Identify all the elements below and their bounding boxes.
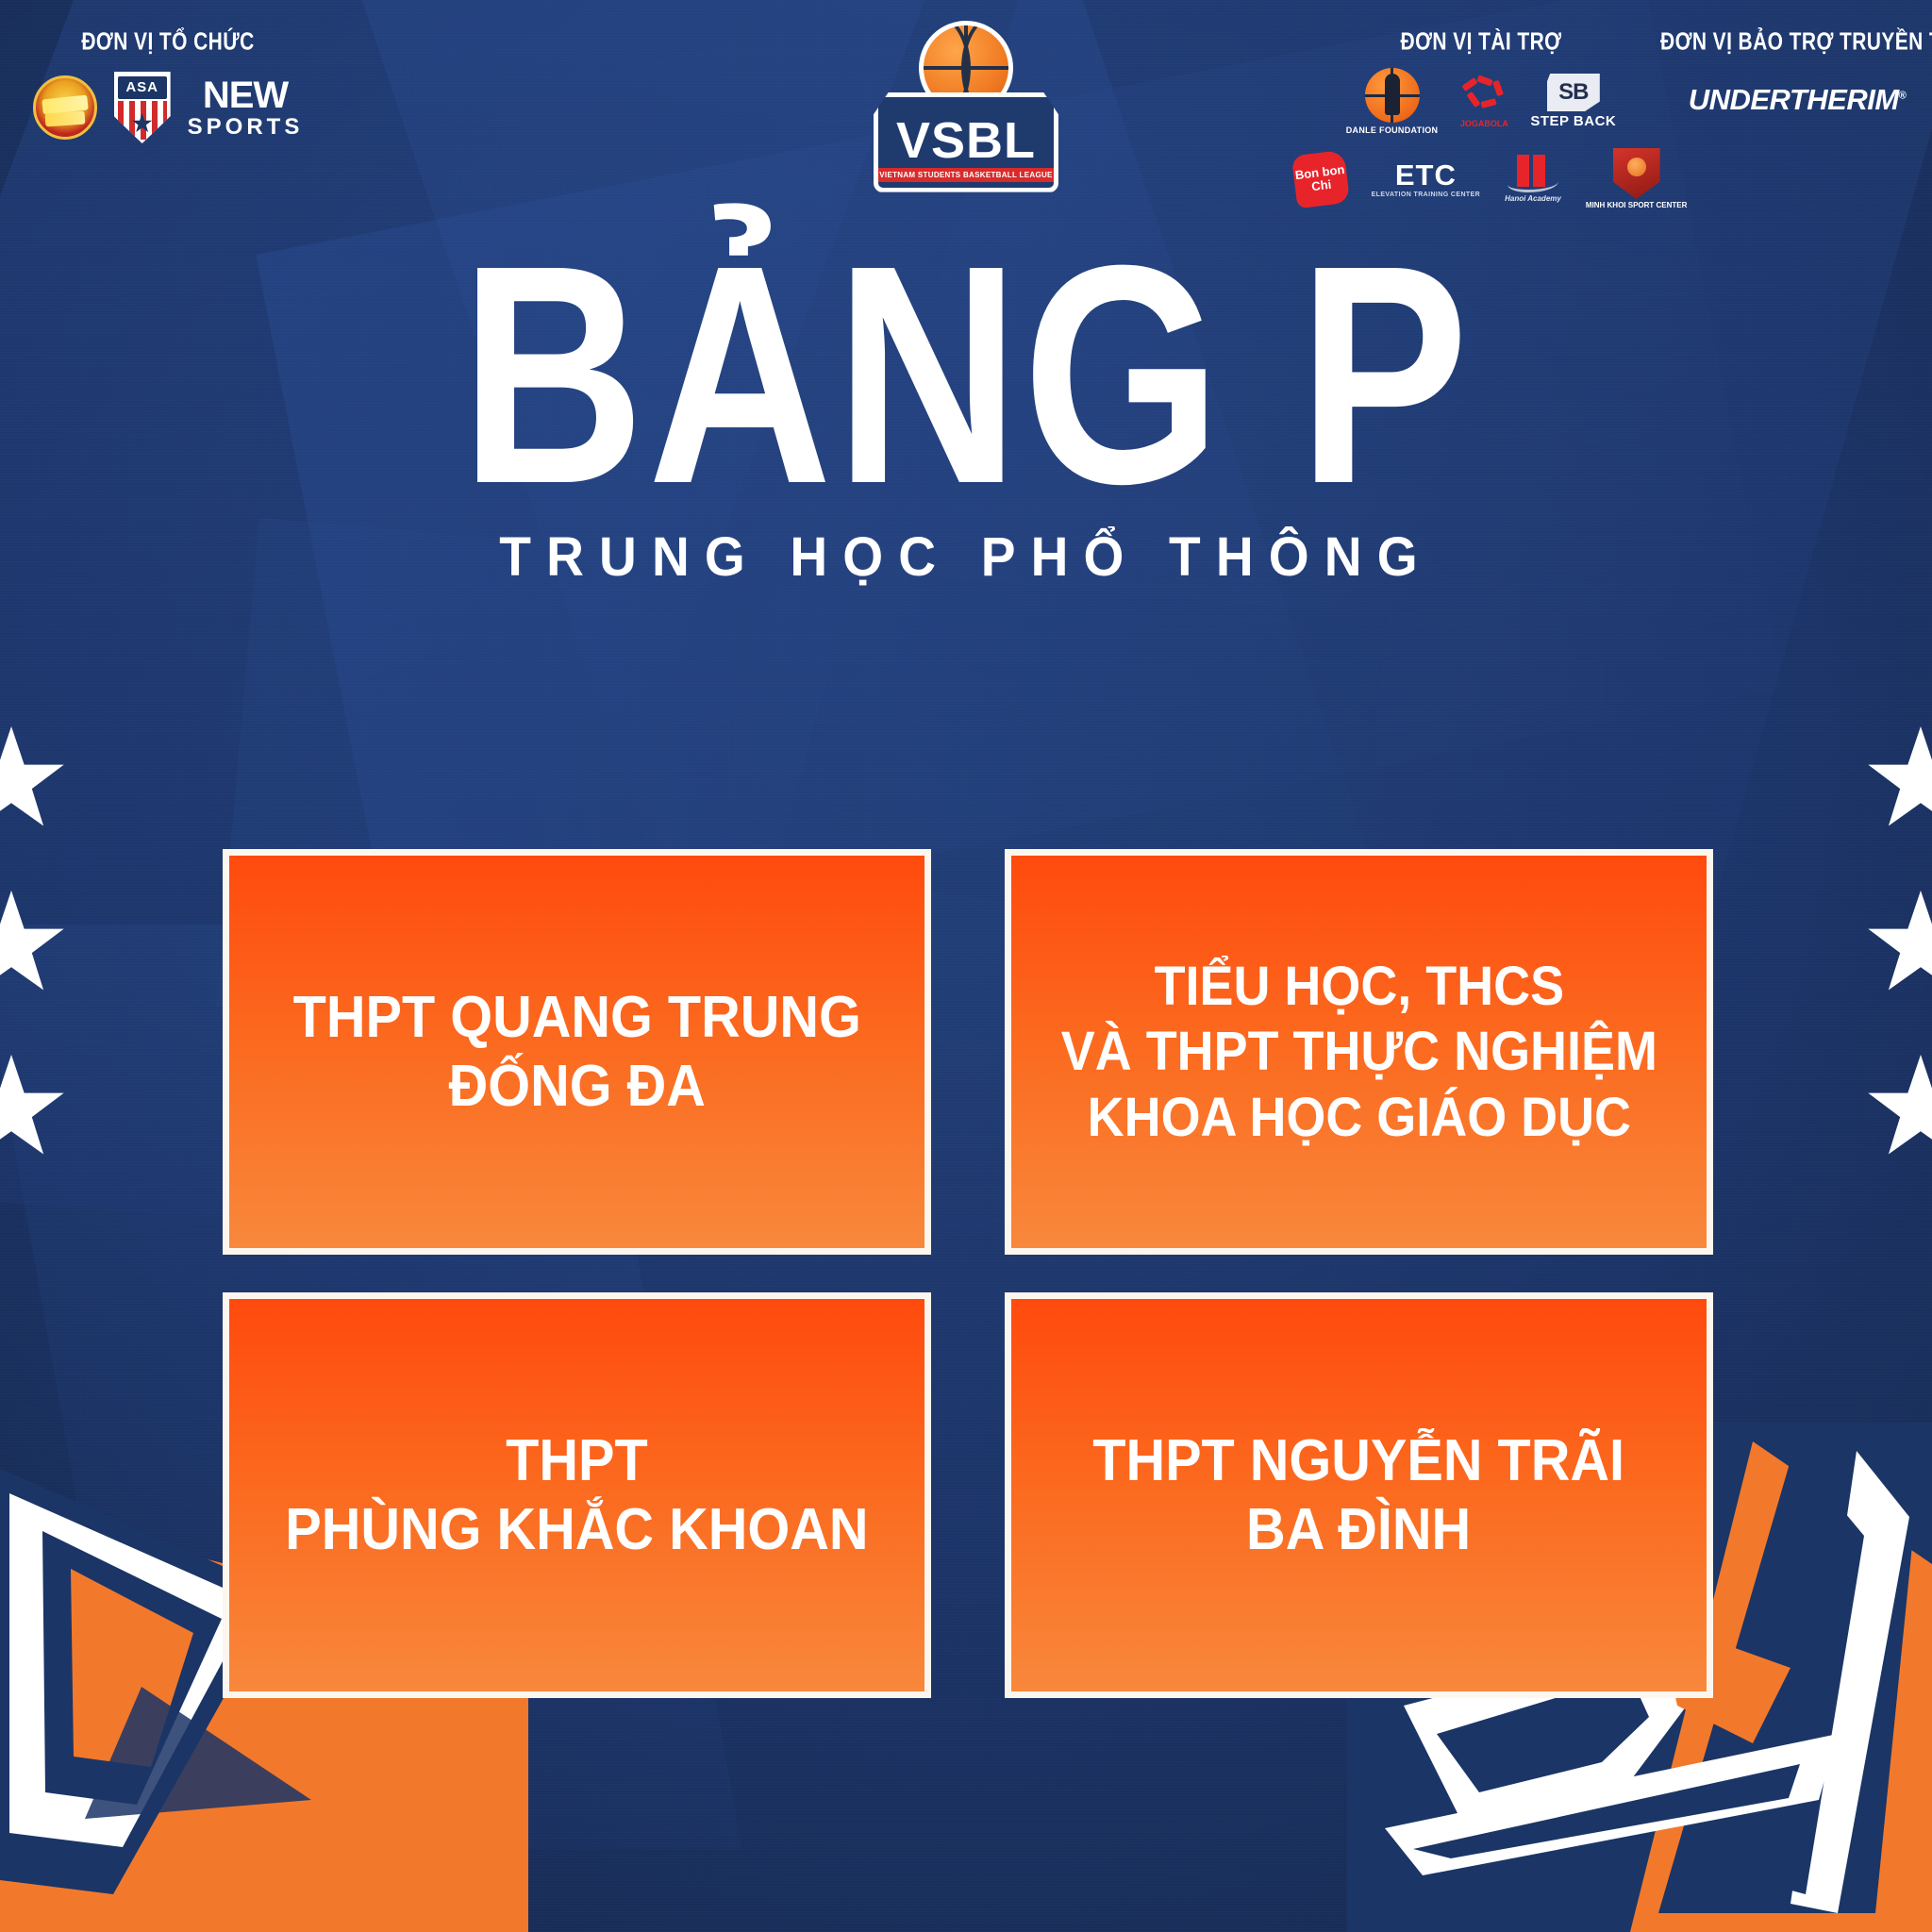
title-section: BẢNG P TRUNG HỌC PHỔ THÔNG [0, 241, 1932, 589]
organizer-logo-row: ASA NEW SPORTS [26, 72, 309, 143]
header-bar: ĐƠN VỊ TỔ CHỨC ASA NEW SPORTS ĐƠN VỊ TÀI… [0, 0, 1932, 203]
media-sponsor-title: ĐƠN VỊ BẢO TRỢ TRUYỀN THÔNG [1660, 28, 1932, 57]
undertherim-logo-text: UNDERTHERIM [1689, 83, 1899, 116]
team-name: TIỂU HỌC, THCS VÀ THPT THỰC NGHIỆM KHOA … [1060, 954, 1657, 1151]
team-name: THPT PHÙNG KHẮC KHOAN [285, 1426, 868, 1564]
danle-foundation-logo: DANLE FOUNDATION [1346, 68, 1439, 135]
shield-icon [1613, 148, 1660, 199]
etc-logo: ETC ELEVATION TRAINING CENTER [1372, 160, 1481, 198]
swoosh-icon [1507, 174, 1558, 192]
hanoi-academy-caption: Hanoi Academy [1505, 194, 1561, 203]
sponsor-title: ĐƠN VỊ TÀI TRỢ [1340, 28, 1623, 57]
asa-logo-label: ASA [118, 76, 167, 99]
sponsor-logo-row-1: DANLE FOUNDATION JOGABOLA SB STEP BACK [1340, 68, 1623, 135]
etc-caption: ELEVATION TRAINING CENTER [1372, 192, 1481, 198]
registered-mark-icon: ® [1899, 91, 1907, 102]
team-card[interactable]: TIỂU HỌC, THCS VÀ THPT THỰC NGHIỆM KHOA … [1005, 849, 1713, 1255]
team-card[interactable]: THPT NGUYỄN TRÃI BA ĐÌNH [1005, 1292, 1713, 1698]
star-decoration-right [1866, 726, 1932, 1219]
star-icon [1866, 726, 1932, 836]
minh-khoi-caption: MINH KHOI SPORT CENTER [1586, 201, 1688, 209]
vsbl-logo-plate: VSBL VIETNAM STUDENTS BASKETBALL LEAGUE [874, 92, 1058, 192]
media-sponsor-section: ĐƠN VỊ BẢO TRỢ TRUYỀN THÔNG UNDERTHERIM® [1660, 28, 1932, 117]
team-card[interactable]: THPT QUANG TRUNG ĐỐNG ĐA [223, 849, 931, 1255]
hanoi-academy-logo: Hanoi Academy [1505, 155, 1561, 203]
basketball-icon [1365, 68, 1420, 123]
page-title: BẢNG P [174, 241, 1757, 508]
organizer-section: ĐƠN VỊ TỔ CHỨC ASA NEW SPORTS [26, 28, 309, 143]
step-back-mark: SB [1547, 74, 1600, 111]
team-card[interactable]: THPT PHÙNG KHẮC KHOAN [223, 1292, 931, 1698]
vsbl-logo: VSBL VIETNAM STUDENTS BASKETBALL LEAGUE [867, 21, 1065, 192]
jogabola-caption: JOGABOLA [1458, 119, 1509, 128]
hanoi-academy-mark [1507, 155, 1558, 192]
step-back-caption: STEP BACK [1530, 113, 1616, 129]
star-icon [1866, 891, 1932, 1000]
star-decoration-left [0, 726, 66, 1219]
step-back-logo: SB STEP BACK [1530, 74, 1616, 129]
sponsor-section: ĐƠN VỊ TÀI TRỢ DANLE FOUNDATION JOGABOLA [1340, 28, 1623, 135]
new-sports-logo-line1: NEW [188, 76, 304, 114]
etc-mark: ETC [1372, 160, 1481, 190]
team-card-grid: THPT QUANG TRUNG ĐỐNG ĐA TIỂU HỌC, THCS … [223, 849, 1713, 1698]
player-silhouette-icon [1385, 74, 1400, 115]
asa-logo: ASA [114, 72, 171, 143]
new-sports-logo: NEW SPORTS [188, 76, 304, 139]
undertherim-logo: UNDERTHERIM® [1689, 83, 1907, 117]
jogabola-mark [1458, 75, 1509, 117]
star-icon [0, 1055, 66, 1164]
thuong-hieu-logo [33, 75, 97, 140]
star-icon [0, 726, 66, 836]
new-sports-logo-line2: SPORTS [188, 116, 304, 139]
vsbl-logo-ribbon: VIETNAM STUDENTS BASKETBALL LEAGUE [878, 168, 1054, 182]
page-subtitle: TRUNG HỌC PHỔ THÔNG [48, 525, 1884, 589]
organizer-title: ĐƠN VỊ TỔ CHỨC [26, 28, 309, 57]
danle-foundation-caption: DANLE FOUNDATION [1346, 125, 1439, 135]
team-name: THPT NGUYỄN TRÃI BA ĐÌNH [1093, 1426, 1625, 1564]
vsbl-logo-word: VSBL [878, 118, 1054, 164]
star-icon [0, 891, 66, 1000]
jogabola-logo: JOGABOLA [1458, 75, 1509, 128]
minh-khoi-logo: MINH KHOI SPORT CENTER [1586, 148, 1688, 209]
star-icon [1866, 1055, 1932, 1164]
team-name: THPT QUANG TRUNG ĐỐNG ĐA [292, 983, 860, 1121]
